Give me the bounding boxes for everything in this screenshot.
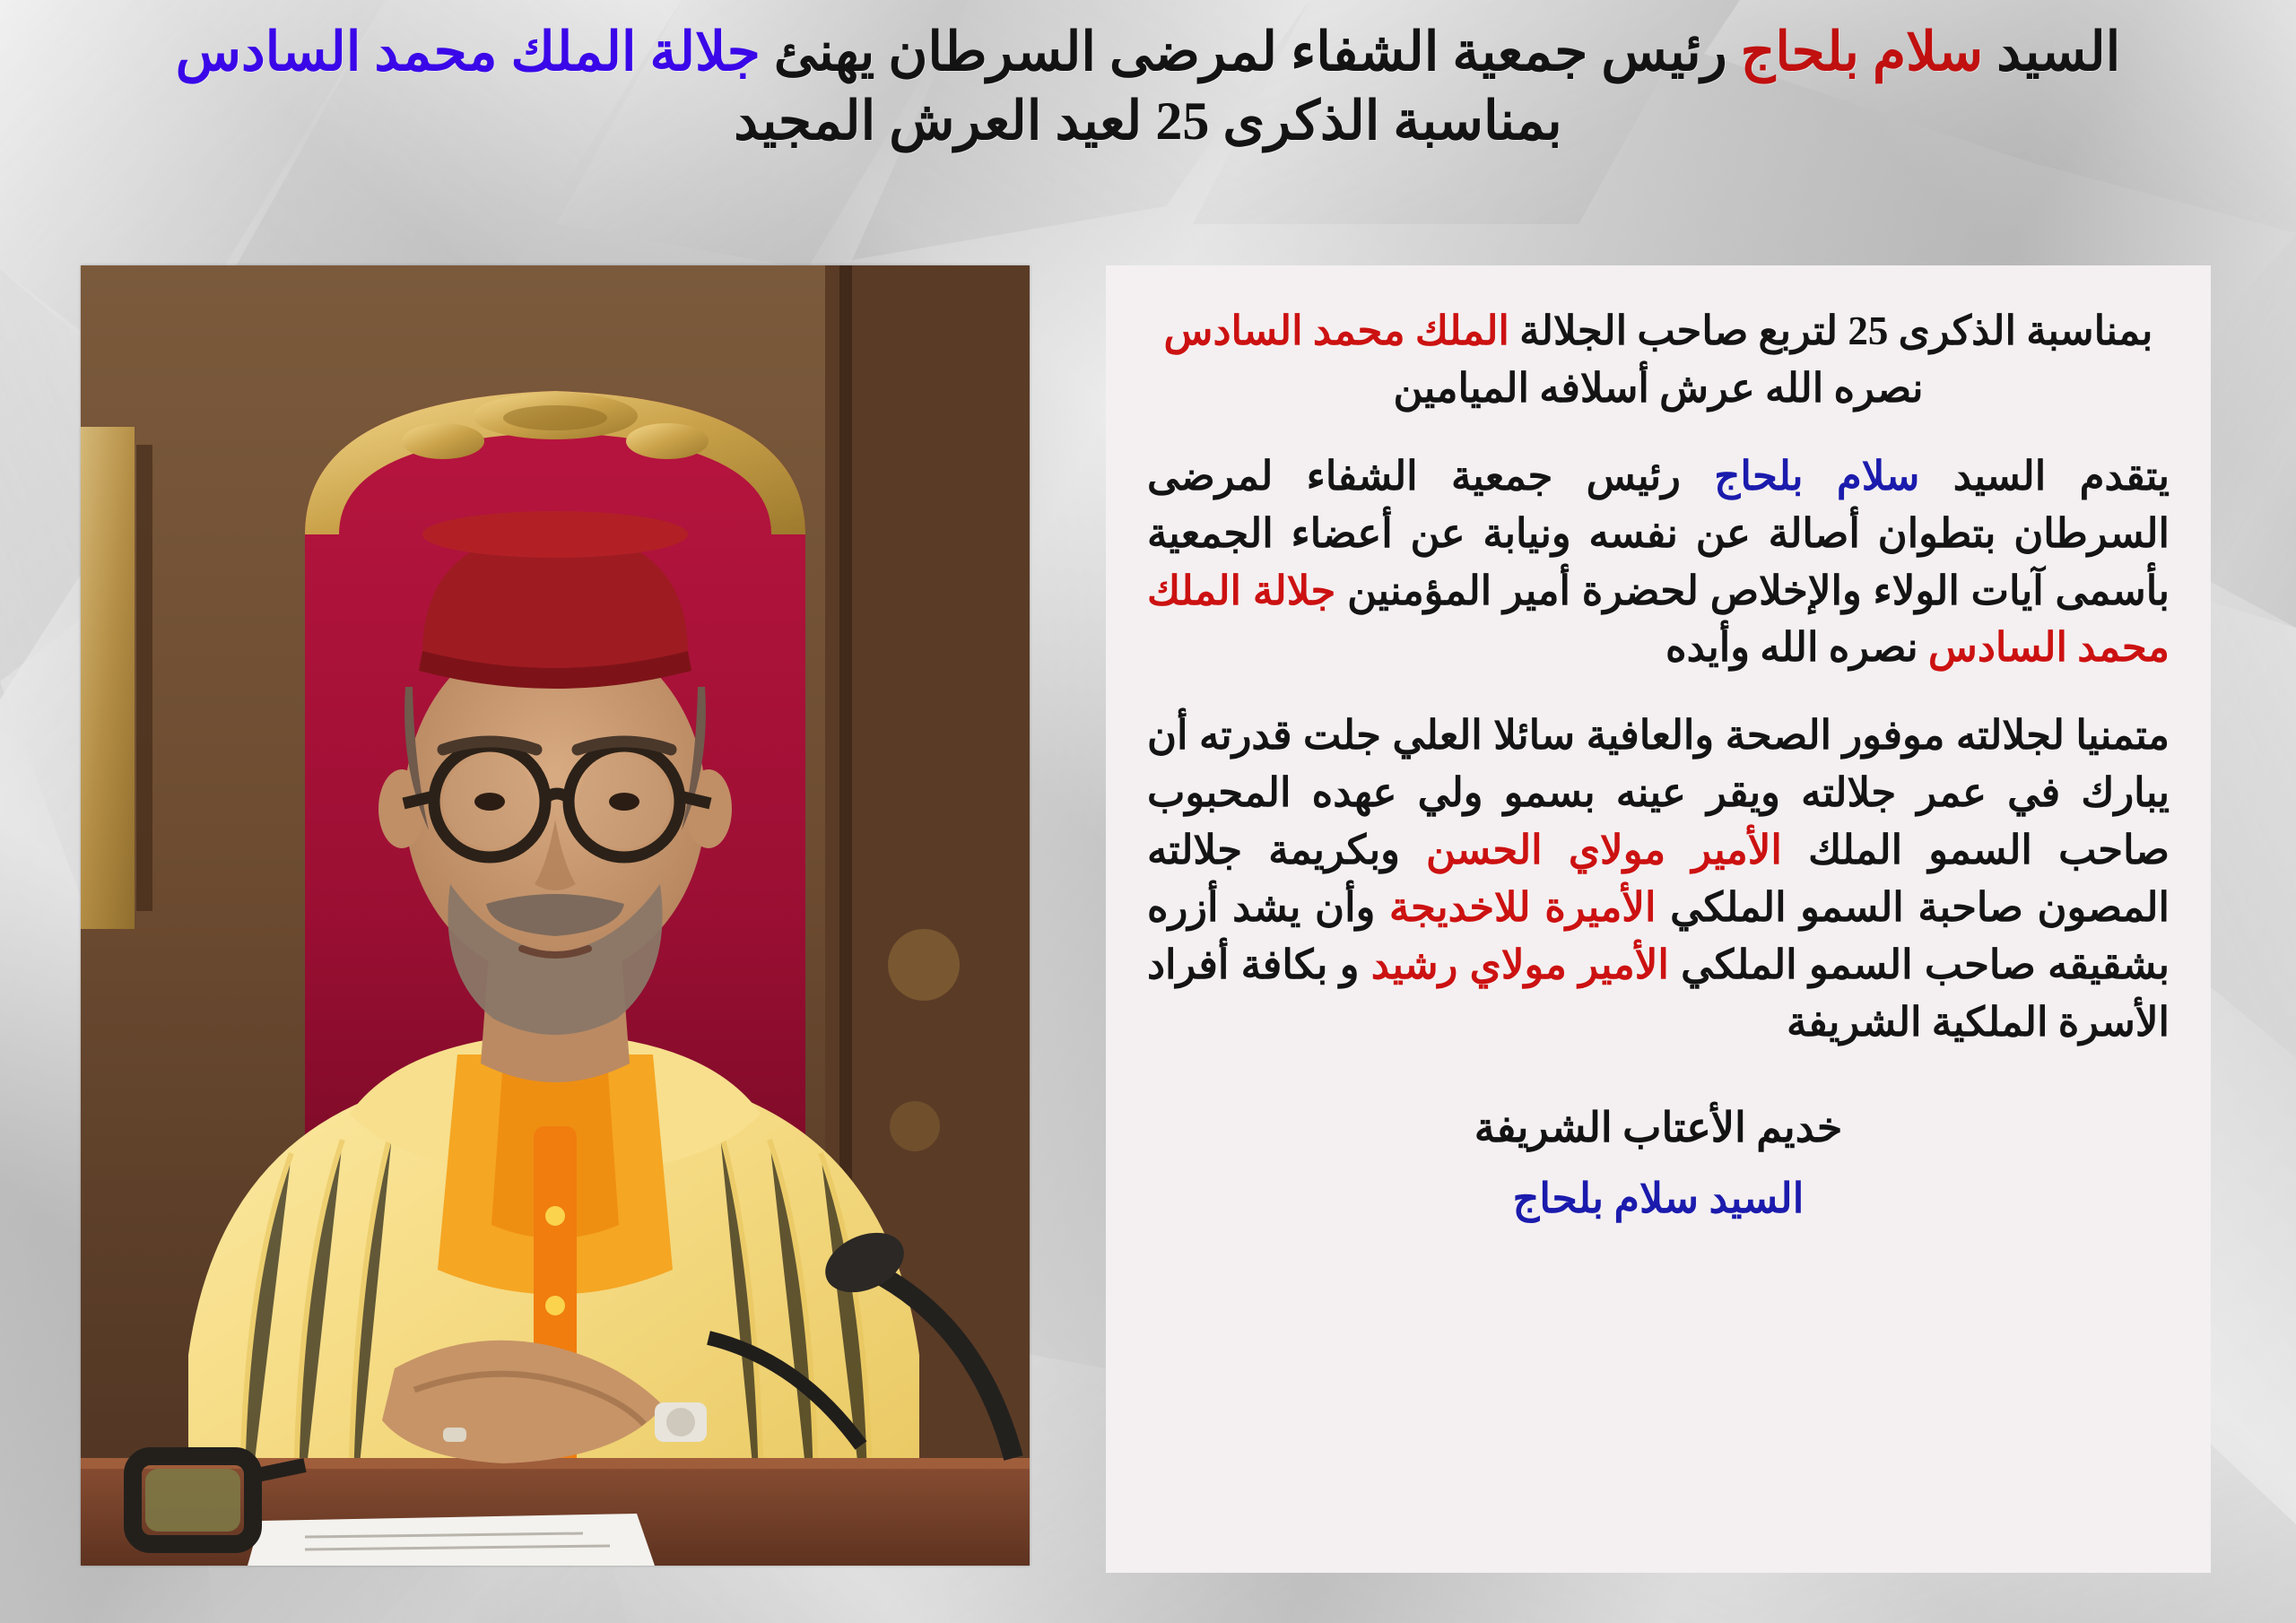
p3-prince-rachid-name: الأمير مولاي رشيد: [1371, 942, 1669, 987]
p2-seg5: نصره الله وأيده: [1665, 625, 1928, 670]
p2-seg1: يتقدم السيد: [1919, 454, 2170, 499]
page-title: السيد سلام بلحاج رئيس جمعية الشفاء لمرضى…: [0, 18, 2296, 156]
paragraph-2: يتقدم السيد سلام بلحاج رئيس جمعية الشفاء…: [1147, 448, 2170, 678]
p1-king-name: الملك محمد السادس: [1164, 308, 1509, 353]
title-king-name: جلالة الملك محمد السادس: [176, 22, 761, 82]
p1-seg1: بمناسبة الذكرى 25 لتربع صاحب الجلالة: [1509, 308, 2153, 353]
title-line-1: السيد سلام بلحاج رئيس جمعية الشفاء لمرضى…: [27, 18, 2269, 87]
p2-president-name: سلام بلحاج: [1714, 454, 1919, 499]
signature-block: خديم الأعتاب الشريفة السيد سلام بلحاج: [1147, 1097, 2170, 1229]
title-middle: رئيس جمعية الشفاء لمرضى السرطان يهنئ: [761, 22, 1741, 82]
title-prefix: السيد: [1983, 22, 2120, 82]
portrait-illustration: [81, 265, 1030, 1566]
king-portrait-photo: [81, 265, 1030, 1566]
p3-princess-name: الأميرة للاخديجة: [1389, 885, 1657, 930]
p3-crown-prince-name: الأمير مولاي الحسن: [1426, 828, 1782, 872]
p1-seg3: نصره الله عرش أسلافه الميامين: [1394, 366, 1924, 411]
title-line-2: بمناسبة الذكرى 25 لعيد العرش المجيد: [27, 87, 2269, 156]
signature-title: خديم الأعتاب الشريفة: [1147, 1097, 2170, 1159]
poster-canvas: السيد سلام بلحاج رئيس جمعية الشفاء لمرضى…: [0, 0, 2296, 1623]
title-president-name: سلام بلحاج: [1741, 22, 1984, 82]
signature-name: السيد سلام بلحاج: [1147, 1167, 2170, 1229]
paragraph-1: بمناسبة الذكرى 25 لتربع صاحب الجلالة الم…: [1147, 303, 2170, 418]
paragraph-3: متمنيا لجلالته موفور الصحة والعافية سائل…: [1147, 707, 2170, 1051]
message-card: بمناسبة الذكرى 25 لتربع صاحب الجلالة الم…: [1106, 265, 2211, 1573]
